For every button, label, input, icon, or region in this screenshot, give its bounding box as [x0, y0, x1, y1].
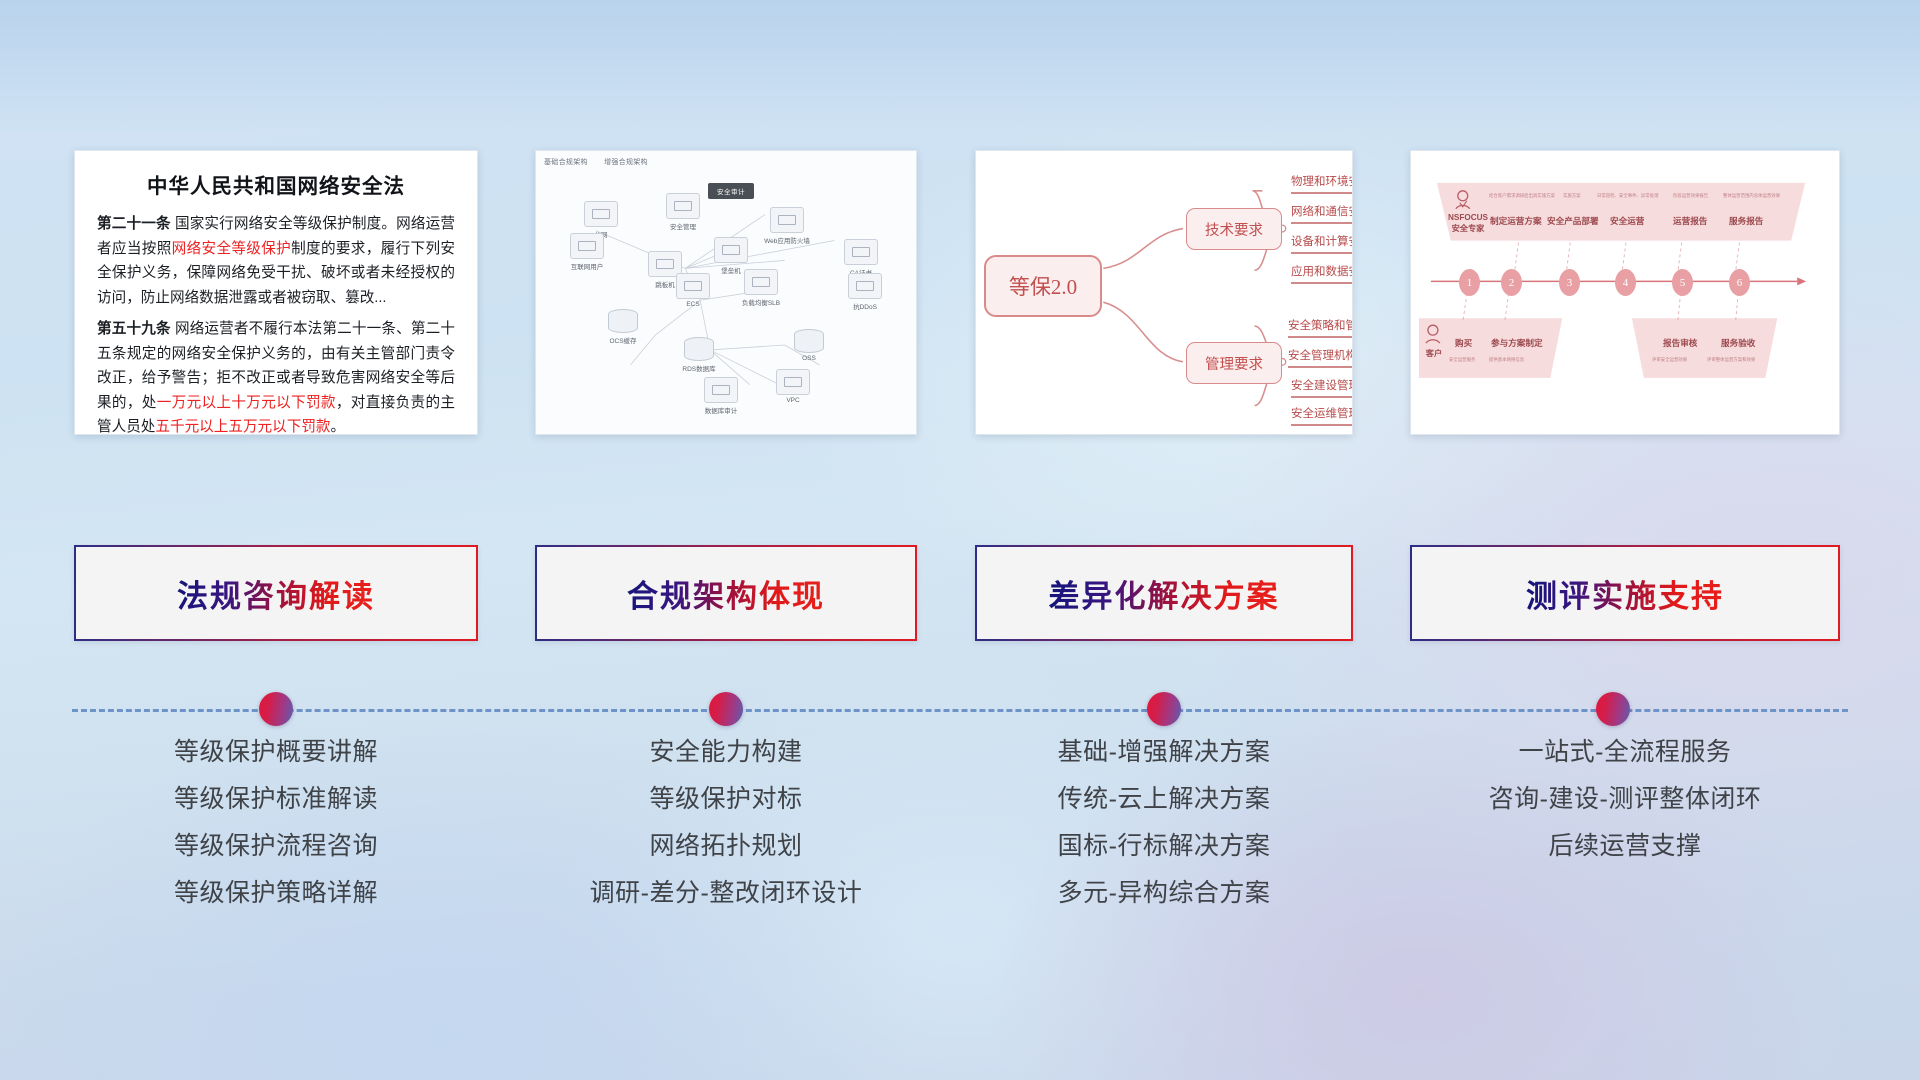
architecture-node-rds: RDS数据库: [670, 337, 728, 373]
section-title-label-1: 法规咨询解读: [177, 571, 375, 616]
roadmap-top-title-1: 制定运营方案: [1490, 215, 1542, 227]
list-item[interactable]: 国标-行标解决方案: [966, 834, 1362, 859]
mindmap-leaf-ops-mgmt[interactable]: 安全运维管理: [1291, 405, 1353, 426]
server-icon: [714, 237, 748, 263]
roadmap-top-sub-2: 实施方案: [1563, 193, 1581, 199]
arrow-icon: [1797, 277, 1806, 285]
mindmap-diagram: 等保2.0 技术要求 管理要求 物理和环境安全 网络和通信安全 设备和计算安全 …: [976, 151, 1352, 434]
list-item[interactable]: 等级保护标准解读: [74, 787, 478, 812]
roadmap-top-title-5: 服务报告: [1729, 215, 1763, 227]
timeline-dashed-line: [72, 709, 1848, 712]
card-mindmap-dengbao[interactable]: 等保2.0 技术要求 管理要求 物理和环境安全 网络和通信安全 设备和计算安全 …: [975, 150, 1353, 435]
list-item[interactable]: 安全能力构建: [520, 740, 932, 765]
timeline-dot-3[interactable]: [1147, 692, 1181, 726]
database-icon: [684, 337, 714, 361]
section-list-3: 基础-增强解决方案 传统-云上解决方案 国标-行标解决方案 多元-异构综合方案: [966, 740, 1362, 928]
node-label: ECS: [664, 301, 722, 308]
list-item[interactable]: 多元-异构综合方案: [966, 881, 1362, 906]
roadmap-bottom-sub-1: 安全运营服务: [1449, 357, 1475, 363]
roadmap-bottom-title-4: 服务验收: [1721, 337, 1755, 349]
roadmap-diagram: NSFOCUS 安全专家 客户 1 2 3 4 5 6 结合客户需求调研后出具实…: [1411, 151, 1839, 434]
roadmap-top-title-4: 运营报告: [1673, 215, 1707, 227]
roadmap-top-title-2: 安全产品部署: [1547, 215, 1599, 227]
mindmap-leaf-device-compute[interactable]: 设备和计算安全: [1291, 233, 1353, 254]
roadmap-customer-actor: 客户: [1417, 347, 1451, 359]
section-title-label-2: 合规架构体现: [627, 571, 825, 616]
section-title-box-4[interactable]: 测评实施支持: [1410, 545, 1840, 641]
architecture-diagram: 基础合规架构 增强合规架构 安全审计 公网: [536, 151, 916, 434]
node-label: RDS数据库: [670, 363, 728, 373]
firewall-icon: [770, 207, 804, 233]
customer-band-right: [1632, 318, 1777, 378]
roadmap-bottom-sub-2: 提供基本网络信息: [1489, 357, 1524, 363]
section-title-label-4: 测评实施支持: [1526, 571, 1724, 616]
list-item[interactable]: 一站式-全流程服务: [1400, 740, 1850, 765]
audit-icon: [704, 377, 738, 403]
list-item[interactable]: 基础-增强解决方案: [966, 740, 1362, 765]
architecture-node-slb: 负载均衡SLB: [732, 269, 790, 307]
card-cloud-architecture[interactable]: 基础合规架构 增强合规架构 安全审计 公网: [535, 150, 917, 435]
list-item[interactable]: 网络拓扑规划: [520, 834, 932, 859]
mindmap-branch-technical[interactable]: 技术要求: [1186, 208, 1282, 250]
server-icon: [584, 201, 618, 227]
law-article-21: 第二十一条 国家实行网络安全等级保护制度。网络运营者应当按照网络安全等级保护制度…: [97, 212, 455, 310]
roadmap-step-6: 6: [1729, 269, 1750, 296]
law-article-59: 第五十九条 网络运营者不履行本法第二十一条、第二十五条规定的网络安全保护义务的，…: [97, 317, 455, 435]
list-item[interactable]: 传统-云上解决方案: [966, 787, 1362, 812]
list-item[interactable]: 等级保护策略详解: [74, 881, 478, 906]
architecture-node-internet-user: 互联网用户: [558, 233, 616, 271]
preview-cards-row: 中华人民共和国网络安全法 第二十一条 国家实行网络安全等级保护制度。网络运营者应…: [0, 150, 1920, 440]
architecture-node-waf: Web应用防火墙: [758, 207, 816, 245]
roadmap-top-sub-4: 阶段运营效果报告: [1673, 193, 1708, 199]
law-article-21-highlight: 网络安全等级保护: [172, 241, 291, 257]
law-article-59-highlight-2: 五千元以上五万元以下罚款: [155, 419, 330, 435]
list-item[interactable]: 等级保护概要讲解: [74, 740, 478, 765]
roadmap-step-2: 2: [1501, 269, 1522, 296]
architecture-node-ecs: ECS: [664, 273, 722, 308]
node-label: VPC: [764, 397, 822, 404]
node-label: Web应用防火墙: [758, 235, 816, 245]
roadmap-bottom-title-1: 购买: [1455, 337, 1472, 349]
list-item[interactable]: 调研-差分-整改闭环设计: [520, 881, 932, 906]
network-icon: [776, 369, 810, 395]
section-list-1: 等级保护概要讲解 等级保护标准解读 等级保护流程咨询 等级保护策略详解: [74, 740, 478, 928]
certificate-icon: [844, 239, 878, 265]
law-article-59-label: 第五十九条: [97, 321, 171, 337]
list-item[interactable]: 后续运营支撑: [1400, 834, 1850, 859]
law-article-59-highlight-1: 一万元以上十万元以下罚款: [157, 395, 336, 411]
architecture-node-oss: OSS: [780, 329, 838, 362]
list-item[interactable]: 等级保护流程咨询: [74, 834, 478, 859]
node-label: 互联网用户: [558, 261, 616, 271]
mindmap-leaf-network-comm[interactable]: 网络和通信安全: [1291, 203, 1353, 224]
mindmap-branch-management[interactable]: 管理要求: [1186, 342, 1282, 384]
node-label: 负载均衡SLB: [732, 297, 790, 307]
loadbalancer-icon: [744, 269, 778, 295]
cache-icon: [608, 309, 638, 333]
timeline-dot-2[interactable]: [709, 692, 743, 726]
mindmap-leaf-construction-mgmt[interactable]: 安全建设管理: [1291, 377, 1353, 398]
roadmap-step-1: 1: [1459, 269, 1480, 296]
list-item[interactable]: 咨询-建设-测评整体闭环: [1400, 787, 1850, 812]
roadmap-bottom-sub-4: 评审整体运营方案和效果: [1707, 357, 1755, 363]
roadmap-step-4: 4: [1615, 269, 1636, 296]
law-document: 中华人民共和国网络安全法 第二十一条 国家实行网络安全等级保护制度。网络运营者应…: [75, 151, 477, 434]
architecture-node-ocs: OCS缓存: [594, 309, 652, 345]
card-service-roadmap[interactable]: NSFOCUS 安全专家 客户 1 2 3 4 5 6 结合客户需求调研后出具实…: [1410, 150, 1840, 435]
card-cybersecurity-law[interactable]: 中华人民共和国网络安全法 第二十一条 国家实行网络安全等级保护制度。网络运营者应…: [74, 150, 478, 435]
node-label: OCS缓存: [594, 335, 652, 345]
storage-icon: [794, 329, 824, 353]
roadmap-top-sub-3: 日常巡检、安全事件、异常处理: [1597, 193, 1658, 199]
architecture-audit-chip: 安全审计: [708, 183, 754, 199]
roadmap-bottom-title-2: 参与方案制定: [1491, 337, 1543, 349]
roadmap-top-sub-5: 整体运营范围内总体运营效果: [1723, 193, 1780, 199]
mindmap-leaf-org-personnel[interactable]: 安全管理机构和人员: [1288, 347, 1353, 368]
roadmap-top-sub-1: 结合客户需求调研后出具实施方案: [1489, 193, 1555, 199]
roadmap-bottom-title-3: 报告审核: [1663, 337, 1697, 349]
timeline: [0, 690, 1920, 730]
section-list-4: 一站式-全流程服务 咨询-建设-测评整体闭环 后续运营支撑: [1400, 740, 1850, 881]
section-titles-row: 法规咨询解读 合规架构体现 差异化解决方案 测评实施支持: [0, 545, 1920, 645]
mindmap-root-node[interactable]: 等保2.0: [984, 255, 1102, 317]
mindmap-leaf-security-policy[interactable]: 安全策略和管理制度: [1288, 317, 1353, 338]
roadmap-step-5: 5: [1672, 269, 1693, 296]
law-article-21-label: 第二十一条: [97, 216, 171, 232]
architecture-node-antiddos: 抗DDoS: [836, 273, 894, 311]
timeline-dot-4[interactable]: [1596, 692, 1630, 726]
roadmap-top-title-3: 安全运营: [1610, 215, 1644, 227]
section-title-box-1[interactable]: 法规咨询解读: [74, 545, 478, 641]
section-title-box-3[interactable]: 差异化解决方案: [975, 545, 1353, 641]
node-label: 数据库审计: [692, 405, 750, 415]
roadmap-bottom-sub-3: 评审安全运营效果: [1652, 357, 1687, 363]
shield-icon: [848, 273, 882, 299]
architecture-node-vpc: VPC: [764, 369, 822, 404]
node-label: 抗DDoS: [836, 301, 894, 311]
law-title: 中华人民共和国网络安全法: [97, 169, 455, 199]
architecture-node-db-audit: 数据库审计: [692, 377, 750, 415]
architecture-node-security-mgmt: 安全管理: [654, 193, 712, 231]
section-title-label-3: 差异化解决方案: [1049, 571, 1280, 616]
mindmap-leaf-physical-env[interactable]: 物理和环境安全: [1291, 173, 1353, 194]
law-article-59-text-3: 。: [331, 419, 346, 435]
list-item[interactable]: 等级保护对标: [520, 787, 932, 812]
section-title-box-2[interactable]: 合规架构体现: [535, 545, 917, 641]
node-label: OSS: [780, 355, 838, 362]
user-icon: [570, 233, 604, 259]
node-label: 安全管理: [654, 221, 712, 231]
architecture-node-ca: CA证书: [832, 239, 890, 277]
section-list-2: 安全能力构建 等级保护对标 网络拓扑规划 调研-差分-整改闭环设计: [520, 740, 932, 928]
shield-icon: [666, 193, 700, 219]
timeline-dot-1[interactable]: [259, 692, 293, 726]
compute-icon: [676, 273, 710, 299]
roadmap-step-3: 3: [1559, 269, 1580, 296]
mindmap-leaf-app-data[interactable]: 应用和数据安全: [1291, 263, 1353, 284]
